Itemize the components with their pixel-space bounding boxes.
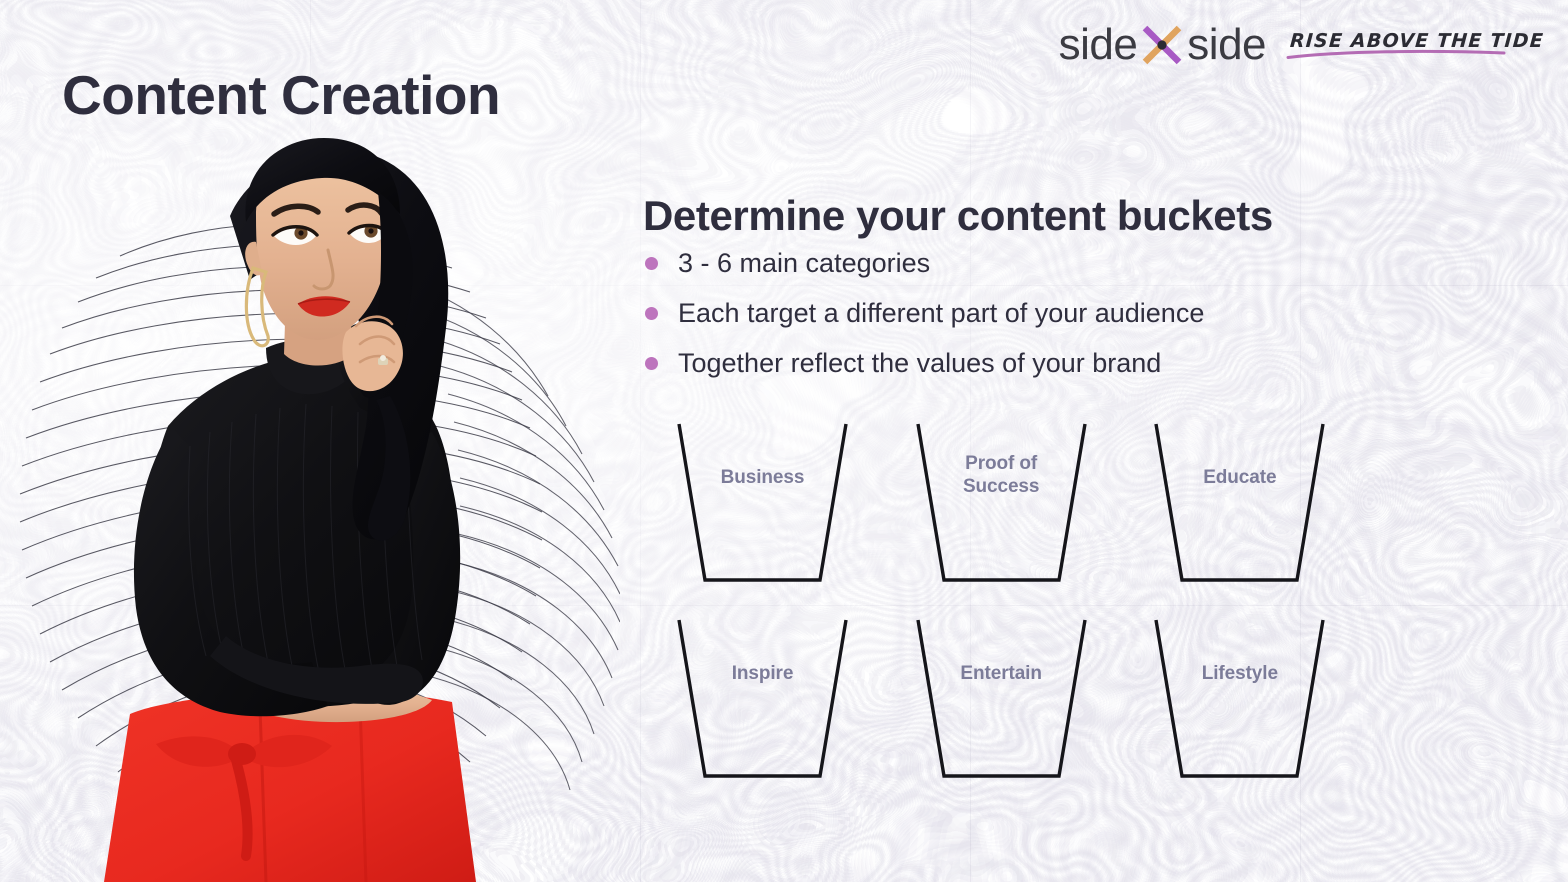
bucket-label: Lifestyle	[1142, 662, 1337, 685]
bucket-shape-icon	[1142, 420, 1337, 595]
sidexside-logo: side side	[1059, 22, 1266, 68]
bucket-proof-of-success: Proof of Success	[904, 420, 1099, 595]
bucket-label: Inspire	[665, 662, 860, 685]
brand-lockup: side side RISE ABOVE THE TIDE	[1059, 22, 1550, 68]
tagline-underline-swoosh	[1286, 48, 1506, 60]
portrait-column	[0, 96, 620, 882]
section-headline: Determine your content buckets	[643, 193, 1273, 239]
bucket-lifestyle: Lifestyle	[1142, 616, 1337, 791]
bucket-educate: Educate	[1142, 420, 1337, 595]
bullet-text: Each target a different part of your aud…	[678, 293, 1204, 335]
bucket-label-line1: Proof of	[904, 452, 1099, 475]
bucket-label: Proof of Success	[904, 452, 1099, 498]
bucket-entertain: Entertain	[904, 616, 1099, 791]
bullet-text: 3 - 6 main categories	[678, 243, 930, 285]
bucket-shape-icon	[904, 616, 1099, 791]
bucket-shape-icon	[665, 616, 860, 791]
bucket-label: Educate	[1142, 466, 1337, 489]
bucket-label-line2: Success	[904, 475, 1099, 498]
list-item: 3 - 6 main categories	[645, 243, 1525, 285]
woman-thinking-portrait	[60, 96, 580, 882]
bullet-list: 3 - 6 main categories Each target a diff…	[645, 243, 1525, 393]
bucket-label: Business	[665, 466, 860, 489]
bucket-label-line1: Educate	[1142, 466, 1337, 489]
bucket-shape-icon	[1142, 616, 1337, 791]
bullet-dot-icon	[645, 357, 658, 370]
x-logo-icon	[1139, 22, 1185, 68]
bullet-dot-icon	[645, 307, 658, 320]
bullet-text: Together reflect the values of your bran…	[678, 343, 1161, 385]
content-buckets-grid: Business Proof of Success Educate	[665, 420, 1355, 812]
logo-word-right: side	[1187, 23, 1266, 67]
bucket-shape-icon	[665, 420, 860, 595]
logo-word-left: side	[1059, 23, 1138, 67]
bucket-label-line1: Lifestyle	[1142, 662, 1337, 685]
bucket-label-line1: Inspire	[665, 662, 860, 685]
bucket-label-line1: Entertain	[904, 662, 1099, 685]
bucket-shape-icon	[904, 420, 1099, 595]
bucket-label: Entertain	[904, 662, 1099, 685]
bucket-label-line1: Business	[665, 466, 860, 489]
list-item: Together reflect the values of your bran…	[645, 343, 1525, 385]
list-item: Each target a different part of your aud…	[645, 293, 1525, 335]
tagline-block: RISE ABOVE THE TIDE	[1284, 28, 1550, 62]
bucket-inspire: Inspire	[665, 616, 860, 791]
slide-canvas: Content Creation side side RISE ABOVE TH…	[0, 0, 1568, 882]
bucket-business: Business	[665, 420, 860, 595]
bullet-dot-icon	[645, 257, 658, 270]
